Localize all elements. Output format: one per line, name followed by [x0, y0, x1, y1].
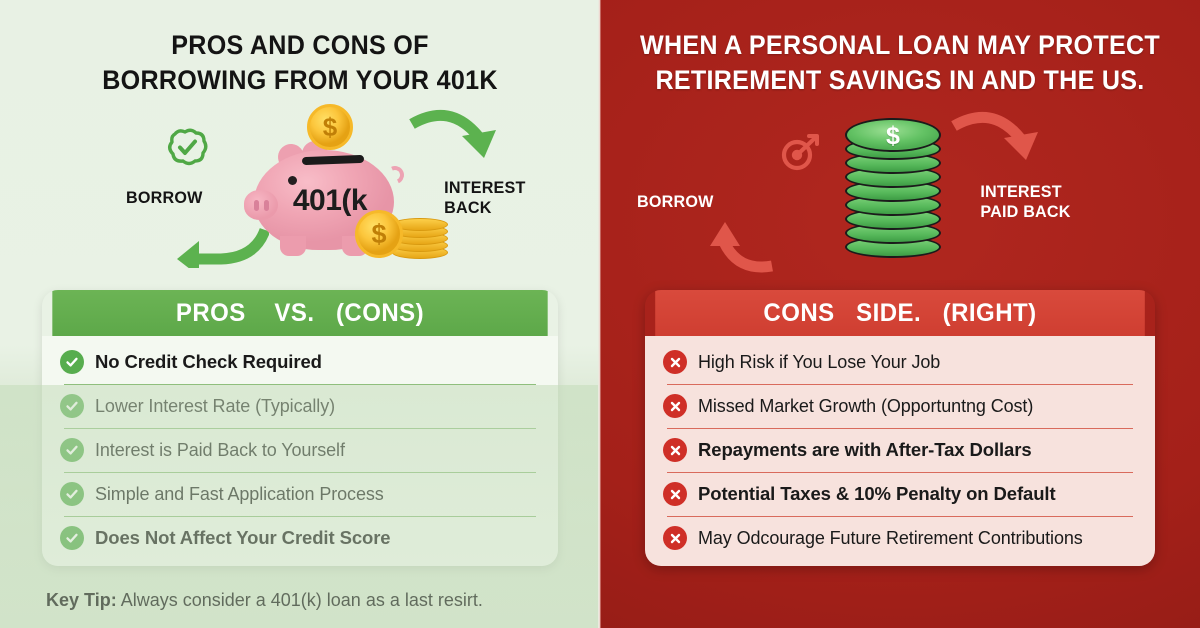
- check-badge-icon: [165, 128, 209, 170]
- piggy-nostril: [254, 200, 259, 211]
- left-illustration: BORROW: [0, 110, 600, 280]
- cons-card: CONS SIDE. (RIGHT) High Risk if You Lose…: [645, 290, 1155, 566]
- left-title-line1: PROS AND CONS OF: [21, 28, 579, 63]
- green-coin-stack-illustration: $: [845, 118, 941, 258]
- list-item[interactable]: Repayments are with After-Tax Dollars: [645, 428, 1155, 472]
- arrow-curve-right-icon: [408, 106, 514, 170]
- piggy-snout: [244, 190, 278, 220]
- target-icon: [780, 132, 820, 172]
- right-panel: WHEN A PERSONAL LOAN MAY PROTECT RETIREM…: [600, 0, 1200, 628]
- arrow-curve-right-icon: [950, 108, 1058, 174]
- left-title-line2: BORROWING FROM YOUR 401K: [21, 63, 579, 98]
- list-item-label: May Odcourage Future Retirement Contribu…: [698, 528, 1083, 549]
- list-item-label: Repayments are with After-Tax Dollars: [698, 439, 1032, 461]
- cross-circle-icon: [663, 482, 687, 506]
- cross-circle-icon: [663, 526, 687, 550]
- gold-coin-icon: $: [307, 104, 353, 150]
- check-circle-icon: [60, 394, 84, 418]
- right-title-line2: RETIREMENT SAVINGS IN AND THE US.: [621, 63, 1179, 98]
- key-tip-text: Always consider a 401(k) loan as a last …: [117, 590, 483, 610]
- right-borrow-label: BORROW: [637, 192, 714, 212]
- list-item-label: Lower Interest Rate (Typically): [95, 396, 335, 417]
- check-circle-icon: [60, 350, 84, 374]
- list-item[interactable]: May Odcourage Future Retirement Contribu…: [645, 516, 1155, 560]
- list-item[interactable]: Does Not Affect Your Credit Score: [42, 516, 558, 560]
- list-item-label: No Credit Check Required: [95, 351, 322, 373]
- cons-list: High Risk if You Lose Your Job Missed Ma…: [645, 336, 1155, 566]
- check-circle-icon: [60, 482, 84, 506]
- right-title-line1: WHEN A PERSONAL LOAN MAY PROTECT: [621, 28, 1179, 63]
- right-interest-label: INTEREST PAID BACK: [980, 182, 1070, 221]
- left-interest-line1: INTEREST: [444, 178, 525, 198]
- gold-coin-icon: $: [355, 210, 403, 258]
- infographic-canvas: PROS AND CONS OF BORROWING FROM YOUR 401…: [0, 0, 1200, 628]
- right-title: WHEN A PERSONAL LOAN MAY PROTECT RETIREM…: [621, 28, 1179, 97]
- list-item-label: High Risk if You Lose Your Job: [698, 352, 940, 373]
- left-panel: PROS AND CONS OF BORROWING FROM YOUR 401…: [0, 0, 600, 628]
- cross-circle-icon: [663, 350, 687, 374]
- cross-circle-icon: [663, 394, 687, 418]
- list-item-label: Simple and Fast Application Process: [95, 484, 384, 505]
- pros-card-header: PROS VS. (CONS): [52, 290, 547, 336]
- list-item[interactable]: Missed Market Growth (Opportuntng Cost): [645, 384, 1155, 428]
- pros-card-header-text: PROS VS. (CONS): [176, 299, 424, 328]
- list-item-label: Does Not Affect Your Credit Score: [95, 527, 391, 549]
- check-circle-icon: [60, 438, 84, 462]
- list-item[interactable]: Potential Taxes & 10% Penalty on Default: [645, 472, 1155, 516]
- dollar-sign-icon: $: [845, 122, 941, 151]
- check-circle-icon: [60, 526, 84, 550]
- list-item-label: Missed Market Growth (Opportuntng Cost): [698, 396, 1033, 417]
- pros-list: No Credit Check Required Lower Interest …: [42, 336, 558, 566]
- cross-circle-icon: [663, 438, 687, 462]
- list-item-label: Potential Taxes & 10% Penalty on Default: [698, 483, 1056, 505]
- left-borrow-label: BORROW: [126, 188, 203, 208]
- right-interest-line1: INTEREST: [980, 182, 1070, 202]
- pros-card: PROS VS. (CONS) No Credit Check Required…: [42, 290, 558, 566]
- list-item[interactable]: No Credit Check Required: [42, 340, 558, 384]
- left-title: PROS AND CONS OF BORROWING FROM YOUR 401…: [21, 28, 579, 97]
- list-item-label: Interest is Paid Back to Yourself: [95, 440, 345, 461]
- list-item[interactable]: Lower Interest Rate (Typically): [42, 384, 558, 428]
- left-interest-label: INTEREST BACK: [444, 178, 525, 217]
- right-interest-line2: PAID BACK: [980, 202, 1070, 222]
- list-item[interactable]: Interest is Paid Back to Yourself: [42, 428, 558, 472]
- key-tip-footer: Key Tip: Always consider a 401(k) loan a…: [46, 590, 576, 611]
- right-illustration: BORROW $: [600, 110, 1200, 280]
- left-interest-line2: BACK: [444, 198, 525, 218]
- piggy-nostril: [264, 200, 269, 211]
- key-tip-label: Key Tip:: [46, 590, 117, 610]
- panel-divider: [598, 0, 601, 628]
- cons-card-header-text: CONS SIDE. (RIGHT): [763, 299, 1036, 328]
- list-item[interactable]: Simple and Fast Application Process: [42, 472, 558, 516]
- list-item[interactable]: High Risk if You Lose Your Job: [645, 340, 1155, 384]
- piggy-leg: [280, 236, 306, 256]
- arrow-up-left-icon: [668, 218, 778, 274]
- cons-card-header: CONS SIDE. (RIGHT): [655, 290, 1145, 336]
